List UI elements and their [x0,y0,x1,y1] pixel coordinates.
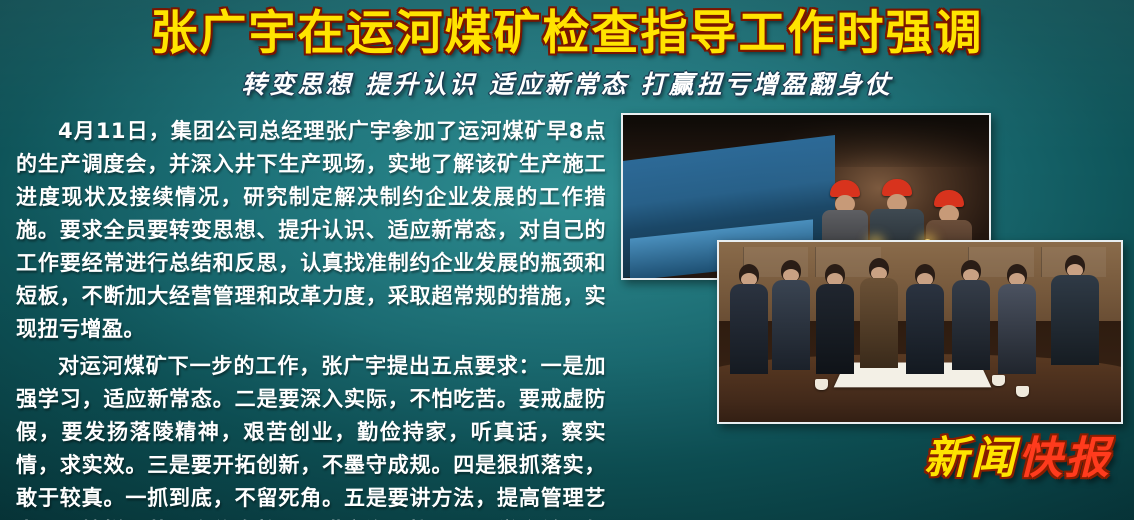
meeting-attendee [729,264,769,372]
page-title: 张广宇在运河煤矿检查指导工作时强调 [151,8,984,61]
attendee-head [915,264,935,286]
attendee-head [739,264,759,286]
poster-header: 张广宇在运河煤矿检查指导工作时强调 转变思想 提升认识 适应新常态 打赢扭亏增盈… [0,8,1134,101]
news-poster: 张广宇在运河煤矿检查指导工作时强调 转变思想 提升认识 适应新常态 打赢扭亏增盈… [0,0,1134,520]
attendee-head [825,264,845,286]
attendee-torso [860,278,898,368]
attendee-head [961,260,981,282]
attendee-torso [1051,275,1099,365]
tea-cup-icon [815,379,828,390]
meeting-attendee [771,260,811,368]
page-subtitle: 转变思想 提升认识 适应新常态 打赢扭亏增盈翻身仗 [241,65,892,101]
meeting-attendee [1049,255,1101,375]
meeting-attendee [951,260,991,368]
status-badge: 新闻快报 [924,422,1112,486]
badge-text-accent: 快报 [1018,433,1112,484]
attendee-head [1007,264,1027,286]
attendee-torso [772,280,810,370]
article-body: 4月11日，集团公司总经理张广宇参加了运河煤矿早8点的生产调度会，并深入井下生产… [16,115,606,520]
attendee-head [869,258,889,280]
attendee-torso [816,284,854,374]
attendee-torso [998,284,1036,374]
badge-text-primary: 新闻 [924,433,1018,484]
meeting-attendee [905,264,945,372]
attendee-torso [906,284,944,374]
meeting-attendee [815,264,855,372]
meeting-attendee [997,264,1037,372]
attendee-torso [952,280,990,370]
tea-cup-icon [992,375,1005,386]
article-paragraph-1: 4月11日，集团公司总经理张广宇参加了运河煤矿早8点的生产调度会，并深入井下生产… [16,115,606,346]
attendee-head [781,260,801,282]
meeting-attendee [859,258,899,366]
attendee-head [1065,255,1085,277]
attendee-torso [730,284,768,374]
photo-meeting-around-table [717,240,1123,424]
article-paragraph-2: 对运河煤矿下一步的工作，张广宇提出五点要求：一是加强学习，适应新常态。二是要深入… [16,350,606,520]
tea-cup-icon [1016,386,1029,397]
